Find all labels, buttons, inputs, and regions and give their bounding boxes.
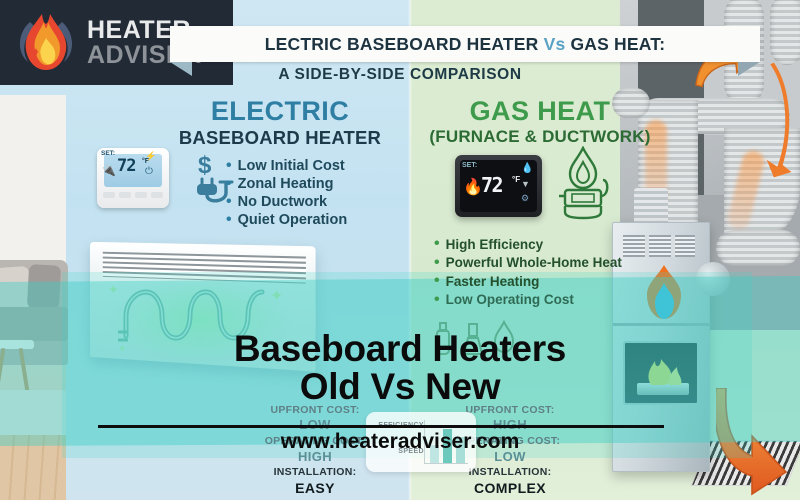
subtitle-text: A SIDE-BY-SIDE COMPARISON (0, 66, 800, 84)
fan-down-icon: ▼ (521, 179, 530, 189)
thermostat-temperature: 72 (481, 173, 502, 197)
infographic-canvas: SET: 🔌 72 °F ⚡ ⏻ SET: 🔥 72 °F 💧 ▼ ⚙ ✦ ✦ … (0, 0, 800, 500)
power-icon: ⏻ (145, 166, 153, 177)
list-item: Zonal Heating (226, 175, 347, 193)
settings-icon: ⚙ (521, 193, 529, 204)
electric-column-heading: ELECTRIC BASEBOARD HEATER (150, 96, 410, 149)
electric-benefits-list: Low Initial Cost Zonal Heating No Ductwo… (226, 157, 347, 229)
gas-heading-main: GAS HEAT (415, 96, 665, 127)
overlay-divider-rule (98, 425, 664, 428)
list-item: Faster Heating (434, 272, 622, 291)
flame-icon: 🔥 (463, 177, 483, 197)
thermostat-buttons[interactable] (103, 192, 163, 198)
gas-benefits-list: High Efficiency Powerful Whole-Home Heat… (434, 235, 622, 309)
bullet-text: High Efficiency (446, 237, 544, 252)
overlay-title-line-1: Baseboard Heaters (0, 330, 800, 368)
bullet-text: Low Initial Cost (238, 158, 345, 174)
svg-text:$: $ (198, 152, 212, 179)
gas-column-heading: GAS HEAT (FURNACE & DUCTWORK) (415, 96, 665, 147)
gas-meter-icon (557, 146, 617, 220)
list-item: High Efficiency (434, 235, 622, 254)
list-item: Low Operating Cost (434, 291, 622, 310)
electric-heading-main: ELECTRIC (150, 96, 410, 127)
spec-value: COMPLEX (430, 480, 590, 498)
bolt-icon: ⚡ (145, 151, 156, 162)
title-ribbon: LECTRIC BASEBOARD HEATER Vs GAS HEAT: (170, 26, 760, 62)
bullet-text: Faster Heating (446, 274, 540, 289)
spec-row: INSTALLATION: EASY (240, 466, 390, 497)
spec-value: EASY (240, 480, 390, 498)
bullet-text: Low Operating Cost (446, 292, 574, 307)
gas-heading-sub: (FURNACE & DUCTWORK) (415, 127, 665, 147)
bullet-text: Quiet Operation (238, 212, 348, 228)
thermostat-unit: °F (512, 175, 520, 184)
bullet-text: Powerful Whole-Home Heat (446, 255, 622, 270)
thermostat-temperature: 72 (117, 156, 135, 176)
overlay-website-url: www.heateradviser.com (0, 430, 800, 454)
list-item: Powerful Whole-Home Heat (434, 254, 622, 273)
flame-logo-icon (14, 12, 78, 74)
list-item: No Ductwork (226, 193, 347, 211)
list-item: Low Initial Cost (226, 157, 347, 175)
title-vs: Vs (544, 34, 566, 54)
overlay-title: Baseboard Heaters Old Vs New (0, 330, 800, 406)
list-item: Quiet Operation (226, 211, 347, 229)
bullet-text: No Ductwork (238, 194, 327, 210)
electric-heading-sub: BASEBOARD HEATER (150, 127, 410, 149)
overlay-title-line-2: Old Vs New (0, 368, 800, 406)
humidity-icon: 💧 (521, 163, 533, 174)
thermostat-set-label: SET: (101, 150, 115, 157)
title-part-1: LECTRIC BASEBOARD HEATER (265, 34, 539, 54)
bullet-text: Zonal Heating (238, 176, 334, 192)
gas-thermostat[interactable]: SET: 🔥 72 °F 💧 ▼ ⚙ (455, 155, 542, 217)
electric-thermostat[interactable]: SET: 🔌 72 °F ⚡ ⏻ (97, 148, 169, 208)
thermostat-set-label: SET: (462, 162, 477, 169)
title-text: LECTRIC BASEBOARD HEATER Vs GAS HEAT: (265, 34, 666, 55)
title-part-2: GAS HEAT: (570, 34, 665, 54)
plug-icon: 🔌 (102, 164, 116, 177)
